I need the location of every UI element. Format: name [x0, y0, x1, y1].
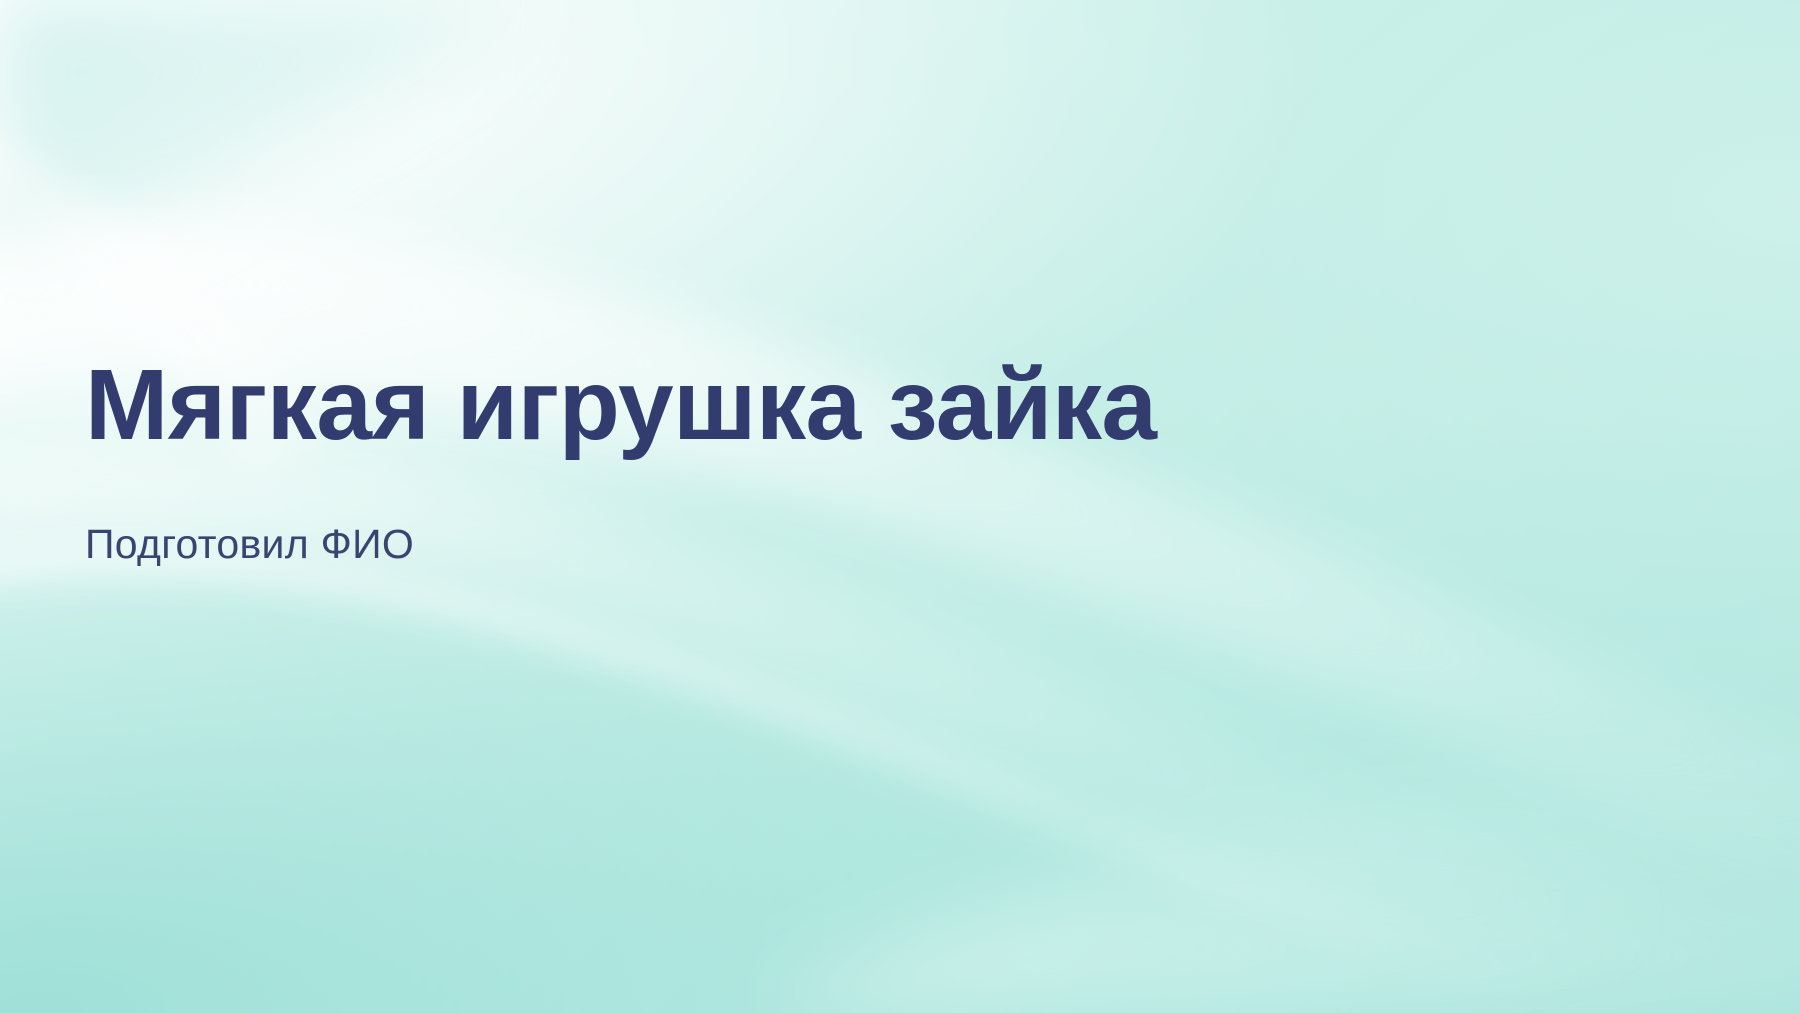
slide-text-block: Мягкая игрушка зайка Подготовил ФИО — [85, 352, 1705, 569]
presentation-slide: Мягкая игрушка зайка Подготовил ФИО — [0, 0, 1800, 1013]
wave-top-tint — [0, 0, 520, 300]
wave-lower-right-glow — [760, 740, 1800, 1013]
wave-streak-thin — [0, 544, 1640, 1013]
slide-subtitle-author: Подготовил ФИО — [85, 458, 1705, 569]
slide-title: Мягкая игрушка зайка — [85, 352, 1705, 458]
